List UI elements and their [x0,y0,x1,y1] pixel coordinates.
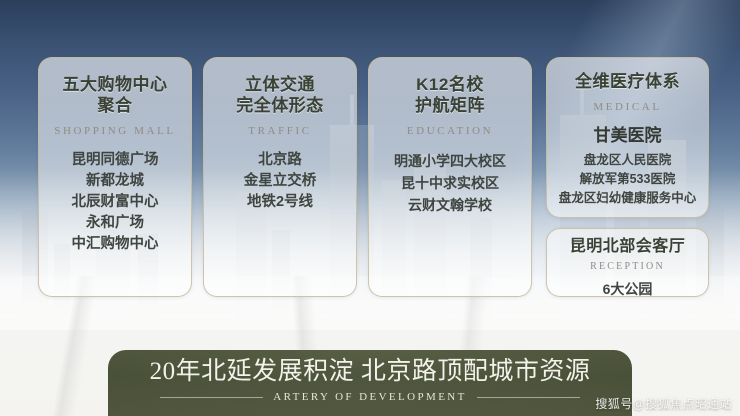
card-title-line2: 护航矩阵 [369,95,531,116]
card-title-line1: 立体交通 [204,74,356,95]
list-item: 盘龙区人民医院 [547,151,708,170]
list-item: 6大公园 [547,279,708,300]
card-title-line1: 五大购物中心 [39,74,191,95]
feature-card-reception: 昆明北部会客厅 RECEPTION 6大公园 [546,228,709,297]
card-subtitle-shopping: SHOPPING MALL [39,125,191,137]
watermark: 搜狐号@搜狐焦点昭通站 [595,395,732,412]
list-item: 新都龙城 [39,171,191,192]
card-items-shopping: 昆明同德广场 新都龙城 北辰财富中心 永和广场 中汇购物中心 [39,150,191,255]
card-title-medical: 全维医疗体系 [547,71,708,92]
banner-headline: 20年北延发展积淀 北京路顶配城市资源 [108,358,632,385]
card-title-line1: 全维医疗体系 [547,71,708,92]
banner-subtitle: ARTERY OF DEVELOPMENT [263,391,477,403]
feature-card-education: K12名校 护航矩阵 EDUCATION 明通小学四大校区 昆十中求实校区 云财… [368,57,532,297]
list-item: 北京路 [204,150,356,171]
bottom-banner: 20年北延发展积淀 北京路顶配城市资源 ARTERY OF DEVELOPMEN… [108,350,632,416]
card-subtitle-medical: MEDICAL [547,101,708,113]
card-items-reception: 6大公园 [547,279,708,300]
card-title-line2: 完全体形态 [204,95,356,116]
list-item: 中汇购物中心 [39,234,191,255]
list-item: 昆明同德广场 [39,150,191,171]
banner-rule-right [477,397,580,398]
card-subtitle-education: EDUCATION [369,125,531,137]
list-item: 解放军第533医院 [547,170,708,189]
list-item: 北辰财富中心 [39,192,191,213]
feature-card-medical: 全维医疗体系 MEDICAL 甘美医院 盘龙区人民医院 解放军第533医院 盘龙… [546,57,709,218]
list-item: 地铁2号线 [204,192,356,213]
feature-card-traffic: 立体交通 完全体形态 TRAFFIC 北京路 金星立交桥 地铁2号线 [203,57,357,297]
card-items-medical: 盘龙区人民医院 解放军第533医院 盘龙区妇幼健康服务中心 [547,151,708,208]
card-title-line1: 昆明北部会客厅 [547,236,708,257]
card-title-reception: 昆明北部会客厅 [547,236,708,257]
banner-subtitle-row: ARTERY OF DEVELOPMENT [108,391,632,403]
list-item: 盘龙区妇幼健康服务中心 [547,189,708,208]
list-item: 昆十中求实校区 [369,172,531,194]
list-item: 云财文翰学校 [369,194,531,216]
card-lead-medical: 甘美医院 [547,124,708,148]
card-title-education: K12名校 护航矩阵 [369,74,531,116]
list-item: 金星立交桥 [204,171,356,192]
card-items-traffic: 北京路 金星立交桥 地铁2号线 [204,150,356,213]
feature-card-shopping: 五大购物中心 聚合 SHOPPING MALL 昆明同德广场 新都龙城 北辰财富… [38,57,192,297]
poster-canvas: 五大购物中心 聚合 SHOPPING MALL 昆明同德广场 新都龙城 北辰财富… [0,0,740,416]
feature-card-group: 五大购物中心 聚合 SHOPPING MALL 昆明同德广场 新都龙城 北辰财富… [0,0,740,320]
card-subtitle-reception: RECEPTION [547,261,708,272]
list-item: 明通小学四大校区 [369,150,531,172]
card-title-shopping: 五大购物中心 聚合 [39,74,191,116]
list-item: 永和广场 [39,213,191,234]
card-title-line2: 聚合 [39,95,191,116]
card-title-traffic: 立体交通 完全体形态 [204,74,356,116]
card-subtitle-traffic: TRAFFIC [204,125,356,137]
card-title-line1: K12名校 [369,74,531,95]
card-items-education: 明通小学四大校区 昆十中求实校区 云财文翰学校 [369,150,531,216]
banner-rule-left [160,397,263,398]
